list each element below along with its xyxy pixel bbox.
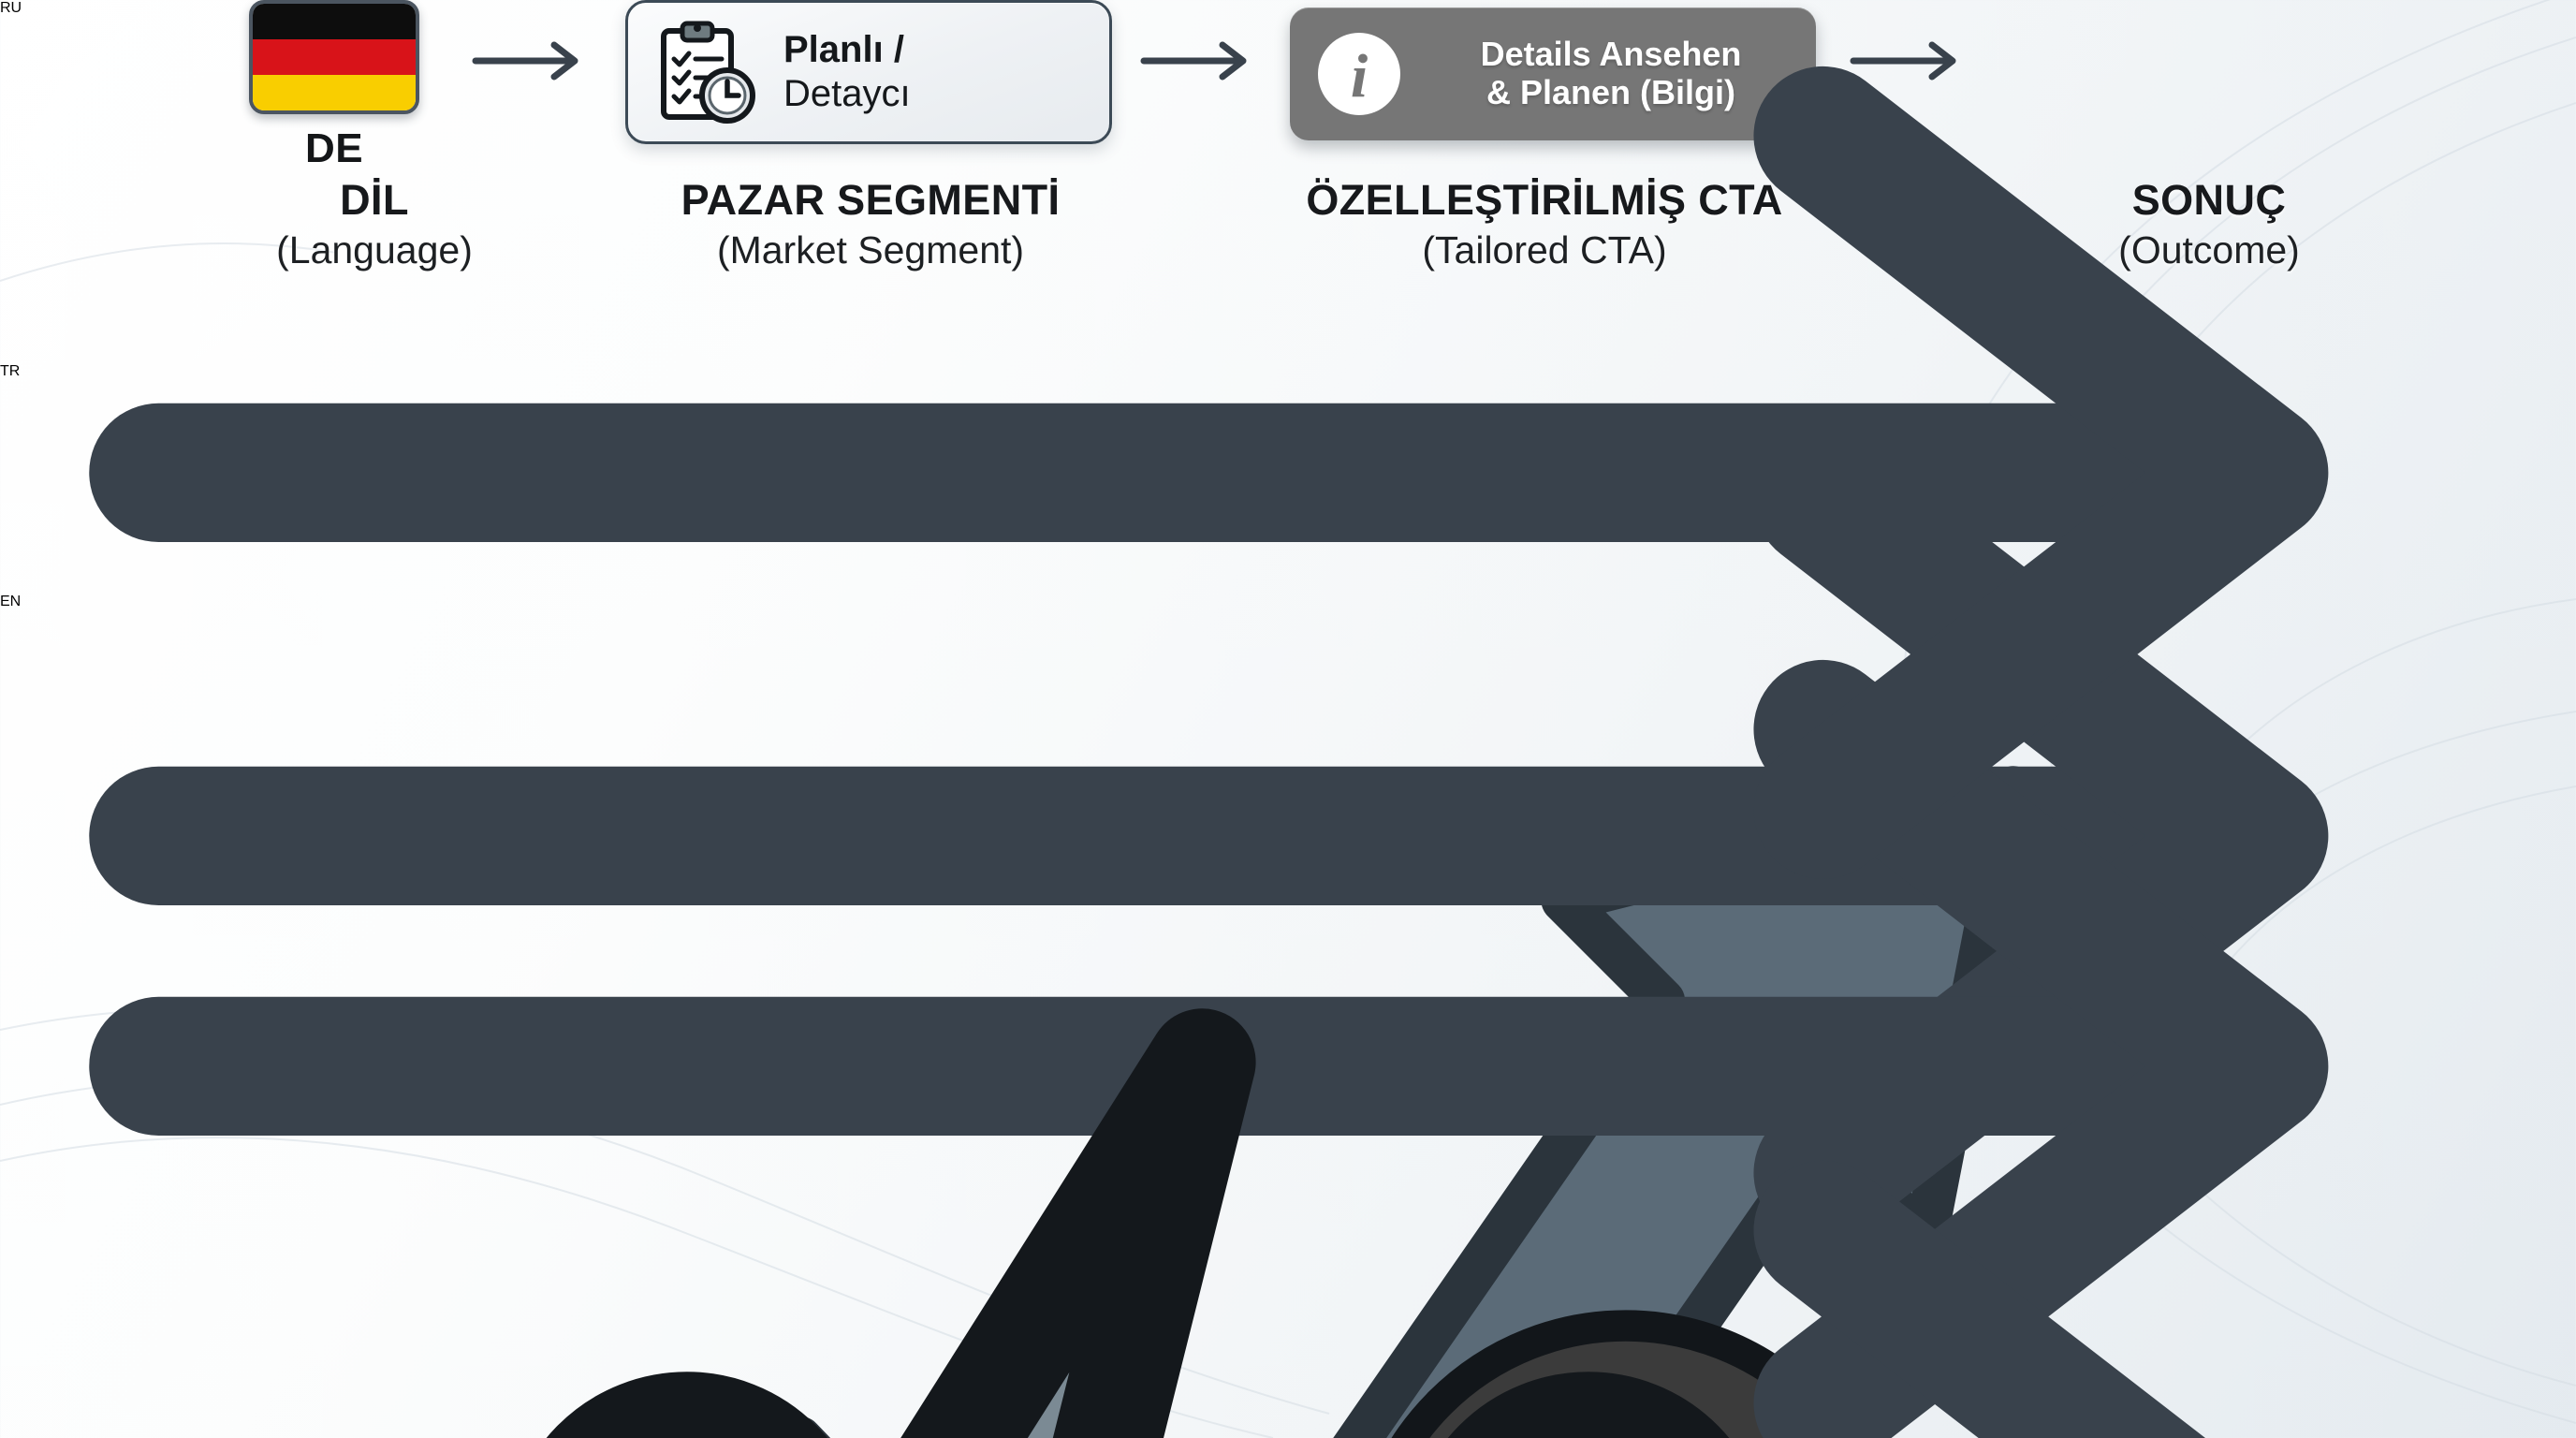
- segment-card-ru[interactable]: Hızlı / Konsept Odaklı: [0, 933, 2576, 1111]
- arrow-right-icon: [0, 1111, 2576, 1438]
- arrow-right-icon: [0, 17, 2576, 933]
- flow-row-ru: RU Hızlı / Konsept Odakl: [0, 0, 2576, 1438]
- infographic-stage: DİL (Language) PAZAR SEGMENTİ (Market Se…: [0, 0, 2576, 1438]
- language-code-ru: RU: [0, 0, 2576, 17]
- language-cell-ru: RU: [0, 0, 2576, 17]
